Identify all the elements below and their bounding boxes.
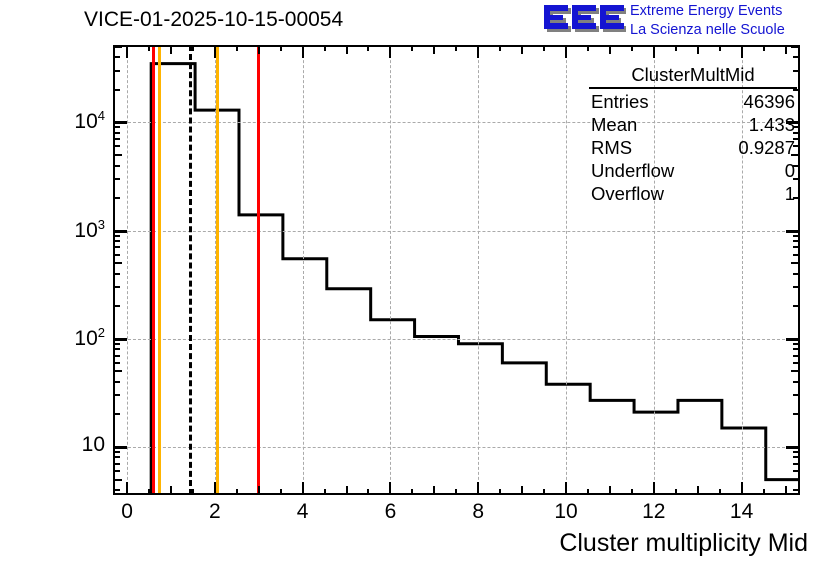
stats-box-rows: Entries46396Mean1.433RMS0.9287Underflow0…: [589, 90, 797, 205]
x-axis-title: Cluster multiplicity Mid: [559, 529, 808, 558]
stats-row: Overflow1: [589, 182, 797, 205]
stats-row-value: 1.433: [749, 113, 795, 136]
stats-row-key: Entries: [591, 90, 649, 113]
eee-logo-line2: La Scienza nelle Scuole: [630, 21, 834, 40]
eee-logo-text: Extreme Energy Events La Scienza nelle S…: [630, 2, 834, 40]
stats-row-value: 46396: [744, 90, 795, 113]
page-title: VICE-01-2025-10-15-00054: [84, 8, 343, 32]
stats-row: RMS0.9287: [589, 136, 797, 159]
stats-row: Mean1.433: [589, 113, 797, 136]
x-axis-tick-label: 0: [121, 500, 133, 524]
x-axis-tick-label: 10: [554, 500, 577, 524]
y-axis-tick-label: 102: [0, 325, 105, 351]
stats-row-value: 0.9287: [738, 136, 795, 159]
x-axis-tick-label: 6: [385, 500, 397, 524]
x-axis-tick-label: 4: [297, 500, 309, 524]
stats-box-title: ClusterMultMid: [589, 63, 797, 89]
eee-logo: Extreme Energy Events La Scienza nelle S…: [542, 2, 834, 40]
stats-box: ClusterMultMid Entries46396Mean1.433RMS0…: [589, 63, 797, 205]
eee-logo-line1: Extreme Energy Events: [630, 2, 834, 21]
y-axis-tick-label: 10: [0, 433, 105, 457]
x-axis-tick-label: 2: [209, 500, 221, 524]
y-axis-tick-label: 104: [0, 108, 105, 134]
stats-row-value: 0: [785, 159, 795, 182]
stats-row-key: Mean: [591, 113, 637, 136]
chart-canvas: VICE-01-2025-10-15-00054: [0, 0, 836, 572]
stats-row-key: RMS: [591, 136, 632, 159]
x-axis-tick-label: 12: [642, 500, 665, 524]
stats-row: Entries46396: [589, 90, 797, 113]
stats-row-value: 1: [785, 182, 795, 205]
stats-row-key: Underflow: [591, 159, 674, 182]
x-axis-tick-label: 14: [730, 500, 753, 524]
stats-row: Underflow0: [589, 159, 797, 182]
y-axis-tick-label: 103: [0, 217, 105, 243]
eee-logo-mark: [542, 3, 626, 37]
stats-row-key: Overflow: [591, 182, 664, 205]
x-axis-tick-label: 8: [472, 500, 484, 524]
